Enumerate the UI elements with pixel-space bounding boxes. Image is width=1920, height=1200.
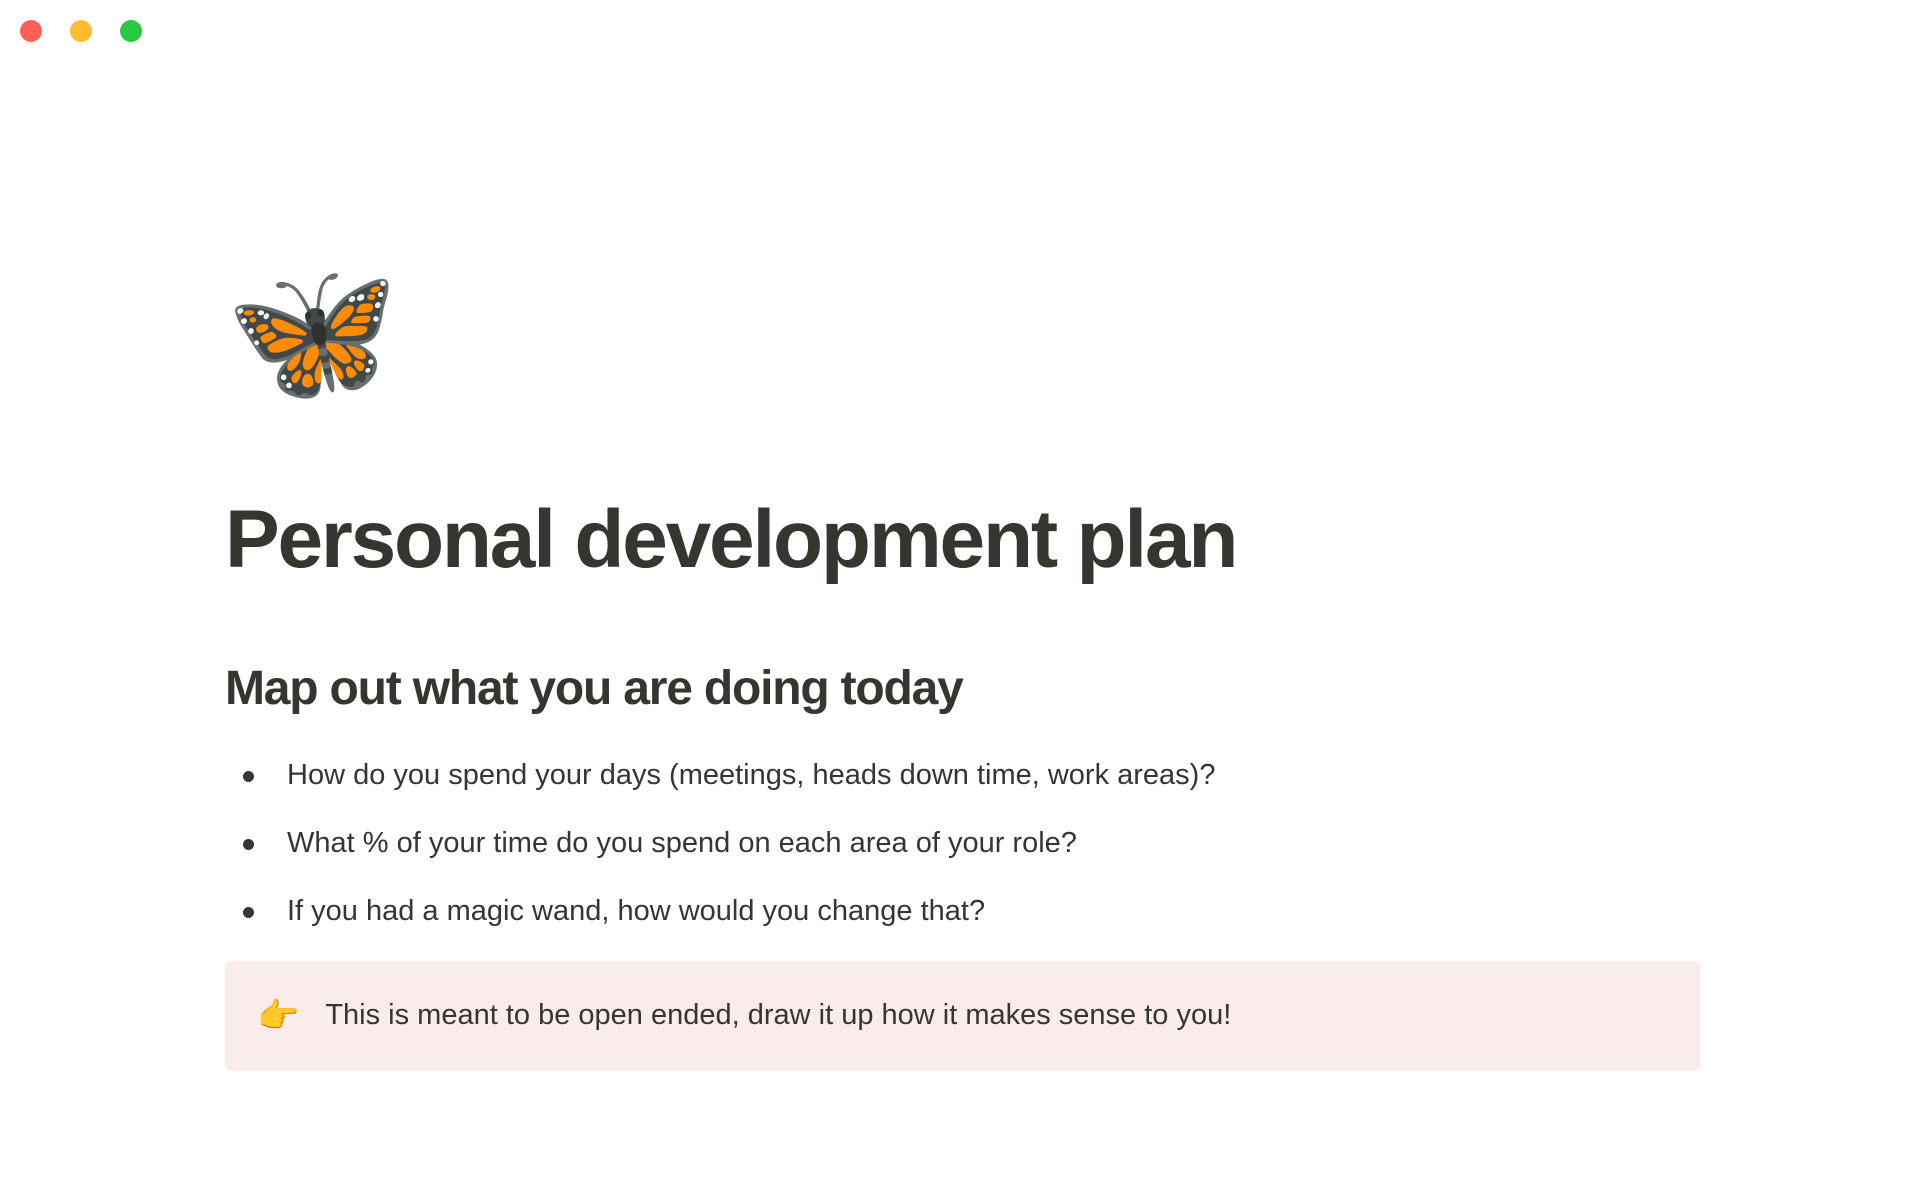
list-item[interactable]: How do you spend your days (meetings, he… (225, 756, 1705, 795)
list-item[interactable]: What % of your time do you spend on each… (225, 824, 1705, 863)
document-content: 🦋 Personal development plan Map out what… (225, 62, 1705, 1071)
page-title[interactable]: Personal development plan (225, 497, 1705, 583)
window-traffic-lights (20, 20, 142, 42)
minimize-window-button[interactable] (70, 20, 92, 42)
butterfly-icon[interactable]: 🦋 (225, 262, 1705, 422)
bullet-dot-icon (243, 839, 254, 850)
section-heading[interactable]: Map out what you are doing today (225, 661, 1705, 716)
maximize-window-button[interactable] (120, 20, 142, 42)
bullet-dot-icon (243, 771, 254, 782)
list-item-label: How do you spend your days (meetings, he… (287, 759, 1215, 791)
pointing-right-icon: 👉 (257, 999, 299, 1033)
callout-box[interactable]: 👉 This is meant to be open ended, draw i… (225, 961, 1700, 1071)
list-item-label: What % of your time do you spend on each… (287, 827, 1077, 859)
list-item-label: If you had a magic wand, how would you c… (287, 895, 985, 927)
window-titlebar (0, 0, 1920, 62)
list-item[interactable]: If you had a magic wand, how would you c… (225, 892, 1705, 931)
question-bullet-list: How do you spend your days (meetings, he… (225, 756, 1705, 931)
callout-text: This is meant to be open ended, draw it … (325, 995, 1231, 1036)
bullet-dot-icon (243, 907, 254, 918)
close-window-button[interactable] (20, 20, 42, 42)
document-page: 🦋 Personal development plan Map out what… (0, 62, 1920, 1200)
app-window: 🦋 Personal development plan Map out what… (0, 0, 1920, 1200)
